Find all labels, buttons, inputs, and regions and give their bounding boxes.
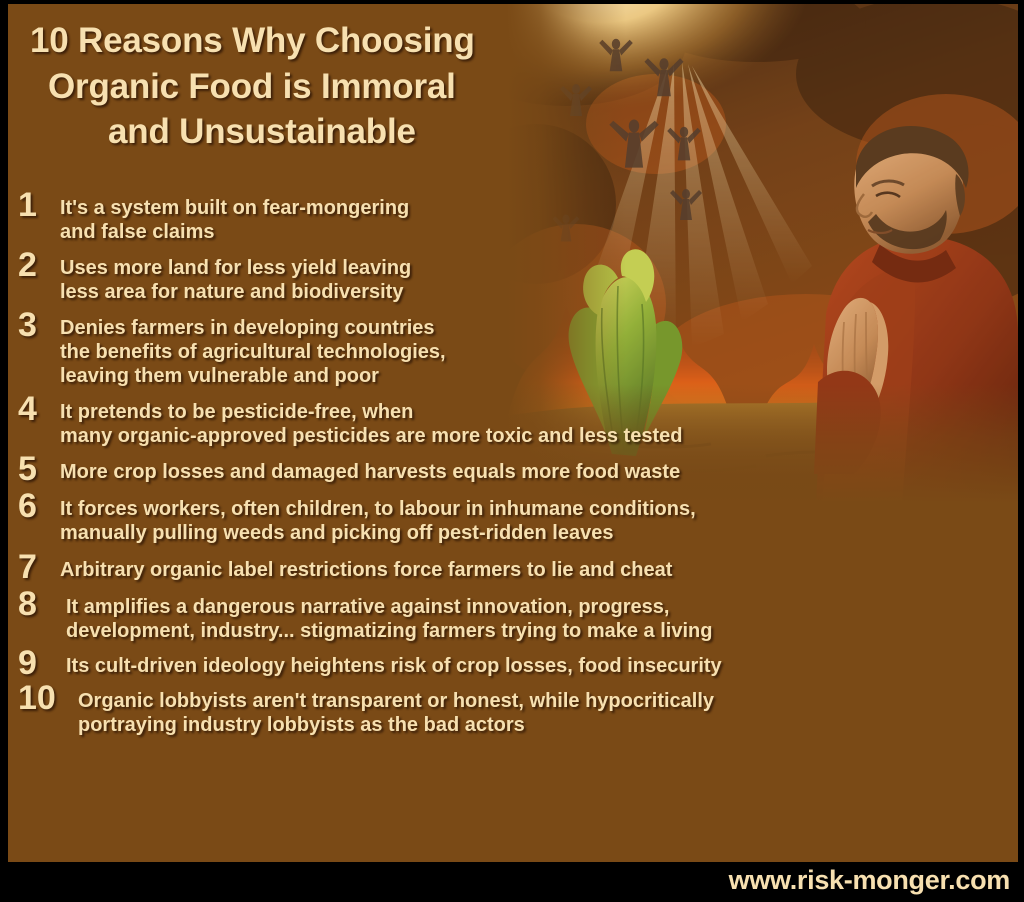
reason-line: It forces workers, often children, to la… bbox=[60, 497, 696, 521]
reason-line: many organic-approved pesticides are mor… bbox=[60, 424, 682, 448]
page-title: 10 Reasons Why Choosing Organic Food is … bbox=[18, 18, 638, 155]
reason-line: It's a system built on fear-mongering bbox=[60, 196, 409, 220]
list-item: 1 It's a system built on fear-mongering … bbox=[18, 188, 1016, 245]
reason-number: 5 bbox=[18, 452, 60, 485]
list-item: 9 Its cult-driven ideology heightens ris… bbox=[18, 646, 1016, 679]
reason-line: leaving them vulnerable and poor bbox=[60, 364, 446, 388]
list-item: 2 Uses more land for less yield leaving … bbox=[18, 248, 1016, 305]
reason-line: It pretends to be pesticide-free, when bbox=[60, 400, 682, 424]
reason-line: Arbitrary organic label restrictions for… bbox=[60, 558, 672, 582]
reason-text: More crop losses and damaged harvests eq… bbox=[60, 452, 680, 484]
reason-line: and false claims bbox=[60, 220, 409, 244]
reason-number: 7 bbox=[18, 550, 60, 583]
reason-text: It forces workers, often children, to la… bbox=[60, 489, 696, 546]
reason-number: 8 bbox=[18, 587, 60, 620]
list-item: 10 Organic lobbyists aren't transparent … bbox=[18, 681, 1016, 738]
poster: 10 Reasons Why Choosing Organic Food is … bbox=[0, 0, 1024, 902]
title-line-3: and Unsustainable bbox=[18, 109, 638, 155]
reason-number: 4 bbox=[18, 392, 60, 425]
reason-line: development, industry... stigmatizing fa… bbox=[66, 619, 712, 643]
reason-line: Uses more land for less yield leaving bbox=[60, 256, 411, 280]
list-item: 8 It amplifies a dangerous narrative aga… bbox=[18, 587, 1016, 644]
list-item: 5 More crop losses and damaged harvests … bbox=[18, 452, 1016, 485]
reason-line: the benefits of agricultural technologie… bbox=[60, 340, 446, 364]
reason-text: Arbitrary organic label restrictions for… bbox=[60, 550, 672, 582]
reason-line: manually pulling weeds and picking off p… bbox=[60, 521, 696, 545]
reason-line: Organic lobbyists aren't transparent or … bbox=[78, 689, 714, 713]
reason-text: Denies farmers in developing countries t… bbox=[60, 308, 446, 389]
reasons-list: 1 It's a system built on fear-mongering … bbox=[18, 188, 1016, 740]
title-line-2: Organic Food is Immoral bbox=[18, 64, 638, 110]
reason-text: It amplifies a dangerous narrative again… bbox=[60, 587, 712, 644]
list-item: 6 It forces workers, often children, to … bbox=[18, 489, 1016, 546]
reason-line: Its cult-driven ideology heightens risk … bbox=[66, 654, 722, 678]
website-url[interactable]: www.risk-monger.com bbox=[729, 865, 1010, 896]
reason-number: 6 bbox=[18, 489, 60, 522]
reason-line: less area for nature and biodiversity bbox=[60, 280, 411, 304]
reason-text: It's a system built on fear-mongering an… bbox=[60, 188, 409, 245]
poster-canvas: 10 Reasons Why Choosing Organic Food is … bbox=[8, 4, 1018, 862]
reason-number: 9 bbox=[18, 646, 60, 679]
reason-line: More crop losses and damaged harvests eq… bbox=[60, 460, 680, 484]
list-item: 3 Denies farmers in developing countries… bbox=[18, 308, 1016, 389]
reason-text: Its cult-driven ideology heightens risk … bbox=[60, 646, 722, 678]
reason-line: Denies farmers in developing countries bbox=[60, 316, 446, 340]
reason-line: portraying industry lobbyists as the bad… bbox=[78, 713, 714, 737]
title-line-1: 10 Reasons Why Choosing bbox=[18, 18, 638, 64]
reason-line: It amplifies a dangerous narrative again… bbox=[66, 595, 712, 619]
list-item: 7 Arbitrary organic label restrictions f… bbox=[18, 550, 1016, 583]
reason-number: 10 bbox=[18, 681, 74, 714]
reason-text: Organic lobbyists aren't transparent or … bbox=[74, 681, 714, 738]
reason-number: 2 bbox=[18, 248, 60, 281]
list-item: 4 It pretends to be pesticide-free, when… bbox=[18, 392, 1016, 449]
reason-number: 3 bbox=[18, 308, 60, 341]
reason-text: It pretends to be pesticide-free, when m… bbox=[60, 392, 682, 449]
footer-bar: www.risk-monger.com bbox=[0, 862, 1024, 902]
reason-number: 1 bbox=[18, 188, 60, 221]
reason-text: Uses more land for less yield leaving le… bbox=[60, 248, 411, 305]
